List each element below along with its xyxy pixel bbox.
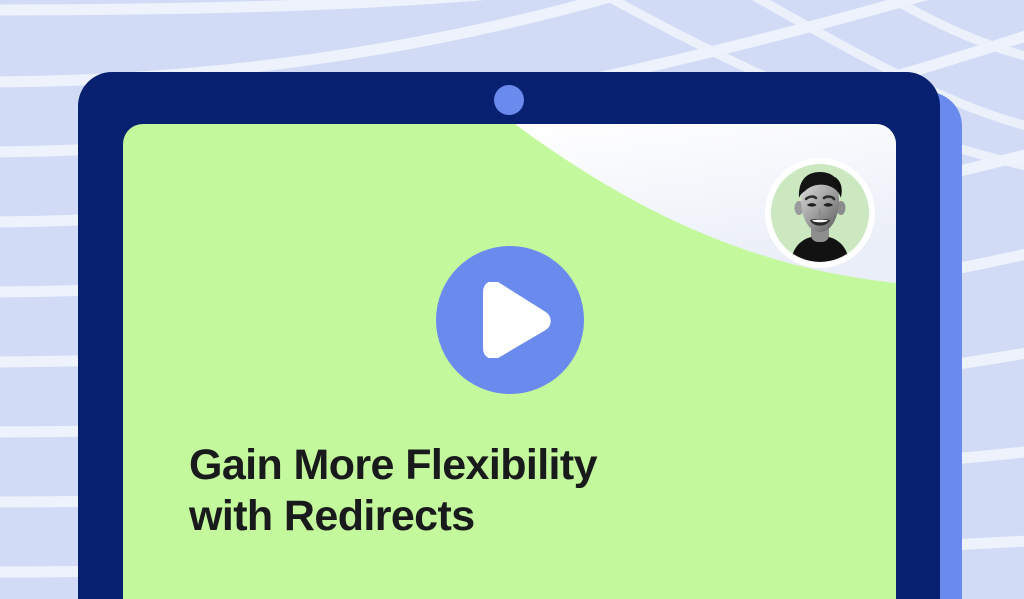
video-thumbnail-scene: Gain More Flexibility with Redirects (0, 0, 1024, 599)
webcam-dot-icon (494, 85, 524, 115)
presenter-avatar-inner (771, 164, 869, 262)
play-triangle-icon (479, 282, 551, 358)
play-button[interactable] (436, 246, 584, 394)
video-title-line-1: Gain More Flexibility (189, 440, 709, 491)
presenter-avatar[interactable] (765, 158, 875, 268)
presenter-photo (771, 164, 869, 262)
video-title-line-2: with Redirects (189, 491, 709, 542)
video-title: Gain More Flexibility with Redirects (189, 440, 709, 542)
